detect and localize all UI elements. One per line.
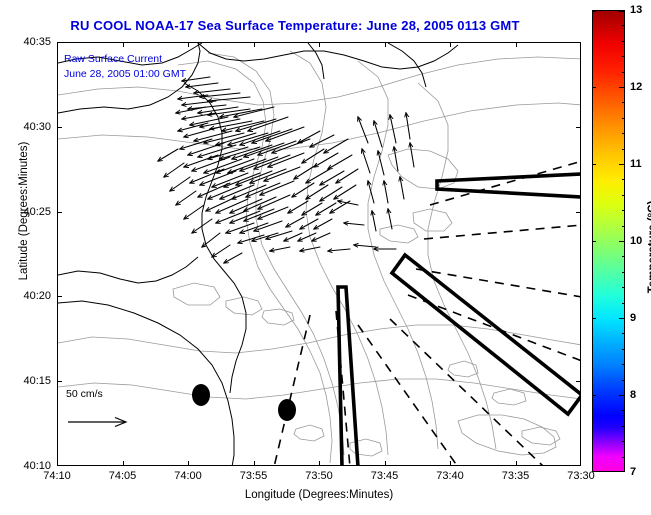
scale-bar-legend: 50 cm/s [63, 388, 183, 440]
x-tick-top [319, 42, 320, 47]
y-tick-right [576, 42, 581, 43]
colorbar-minor-tick [622, 195, 625, 196]
y-tick-label: 40:35 [23, 36, 51, 48]
colorbar-tick-left [593, 164, 596, 165]
colorbar-minor-tick [622, 287, 625, 288]
station-markers [192, 384, 296, 421]
y-tick [57, 296, 62, 297]
colorbar-minor-tick [622, 179, 625, 180]
colorbar-minor-tick [622, 349, 625, 350]
x-tick [123, 461, 124, 466]
colorbar-minor-tick [622, 149, 625, 150]
x-tick [450, 461, 451, 466]
colorbar-tick [619, 318, 625, 319]
colorbar-tick [619, 87, 625, 88]
figure-title: RU COOL NOAA-17 Sea Surface Temperature:… [0, 18, 590, 33]
colorbar-tick-label: 7 [630, 466, 636, 478]
colorbar-minor-tick [622, 272, 625, 273]
colorbar-minor-tick [622, 410, 625, 411]
y-tick-right [576, 465, 581, 466]
x-tick-label: 73:40 [436, 470, 464, 482]
x-tick-label: 73:55 [240, 470, 268, 482]
colorbar-tick-label: 11 [630, 158, 642, 170]
x-tick-top [123, 42, 124, 47]
colorbar-tick [619, 395, 625, 396]
colorbar-minor-tick [622, 72, 625, 73]
x-tick-top [254, 42, 255, 47]
x-tick-top [450, 42, 451, 47]
colorbar-minor-tick [622, 56, 625, 57]
colorbar-minor-tick [622, 226, 625, 227]
y-tick [57, 212, 62, 213]
colorbar-tick [619, 471, 625, 472]
x-tick [319, 461, 320, 466]
annotation-line-2: June 28, 2005 01:00 GMT [64, 68, 186, 80]
figure-root: RU COOL NOAA-17 Sea Surface Temperature:… [0, 0, 651, 515]
colorbar-tick-left [593, 471, 596, 472]
colorbar-tick-left [593, 241, 596, 242]
y-tick [57, 381, 62, 382]
y-tick [57, 465, 62, 466]
annotation-line-1: Raw Surface Current [64, 53, 162, 65]
x-tick [516, 461, 517, 466]
radar-beam-wedges [338, 174, 580, 465]
x-tick [385, 461, 386, 466]
colorbar-minor-tick [622, 441, 625, 442]
x-tick-label: 74:05 [109, 470, 137, 482]
surface-current-vectors [158, 77, 414, 263]
y-tick-right [576, 381, 581, 382]
y-tick-right [576, 296, 581, 297]
colorbar-minor-tick [622, 102, 625, 103]
colorbar-tick-label: 9 [630, 312, 636, 324]
radar-bearing-lines [274, 161, 580, 465]
colorbar-tick-label: 8 [630, 389, 636, 401]
x-tick-label: 73:45 [371, 470, 399, 482]
colorbar-title: Temperature (°C) [647, 147, 651, 347]
x-axis-title: Longitude (Degrees:Minutes) [57, 489, 581, 501]
y-axis-title: Latitude (Degrees:Minutes) [18, 101, 30, 321]
colorbar-minor-tick [622, 133, 625, 134]
colorbar-tick-label: 10 [630, 235, 642, 247]
x-tick-top [385, 42, 386, 47]
y-tick-label: 40:10 [23, 460, 51, 472]
y-tick-label: 40:15 [23, 375, 51, 387]
colorbar-minor-tick [622, 457, 625, 458]
colorbar-minor-tick [622, 256, 625, 257]
colorbar-tick-left [593, 87, 596, 88]
colorbar-tick-label: 12 [630, 81, 642, 93]
colorbar-minor-tick [622, 25, 625, 26]
y-tick [57, 42, 62, 43]
colorbar-tick [619, 241, 625, 242]
colorbar-tick-left [593, 395, 596, 396]
colorbar-minor-tick [622, 426, 625, 427]
x-tick-label: 74:00 [174, 470, 202, 482]
y-tick-right [576, 127, 581, 128]
colorbar-tick [619, 11, 625, 12]
colorbar-minor-tick [622, 380, 625, 381]
x-tick [254, 461, 255, 466]
x-tick-label: 73:50 [305, 470, 333, 482]
colorbar-tick-label: 13 [630, 4, 642, 16]
x-tick [188, 461, 189, 466]
map-plot-area[interactable]: Raw Surface Current June 28, 2005 01:00 … [57, 42, 581, 466]
x-tick-top [516, 42, 517, 47]
colorbar-minor-tick [622, 364, 625, 365]
colorbar-tick-left [593, 318, 596, 319]
colorbar-minor-tick [622, 303, 625, 304]
colorbar-minor-tick [622, 210, 625, 211]
colorbar-minor-tick [622, 41, 625, 42]
x-tick-top [188, 42, 189, 47]
colorbar-tick [619, 164, 625, 165]
colorbar-minor-tick [622, 118, 625, 119]
y-tick [57, 127, 62, 128]
colorbar-tick-left [593, 11, 596, 12]
x-tick-label: 73:35 [502, 470, 530, 482]
colorbar-minor-tick [622, 333, 625, 334]
y-tick-right [576, 212, 581, 213]
x-tick-label: 73:30 [567, 470, 595, 482]
